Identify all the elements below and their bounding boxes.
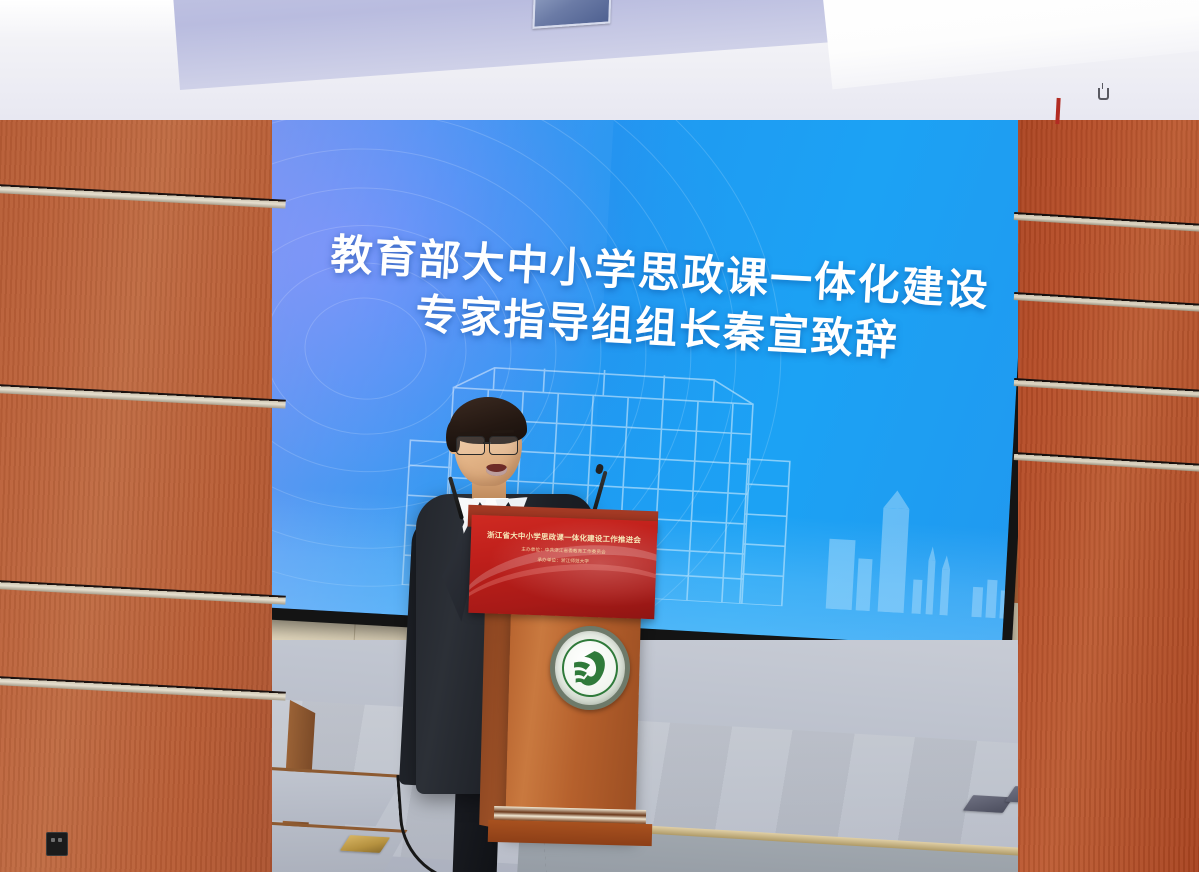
conference-photo-scene: 浙江省大中小学思政课一体化建设工作推进会 教育部大中小学思政课一体化建设 专家指… [0, 0, 1199, 872]
power-outlet-icon [46, 832, 68, 856]
mouth [486, 464, 507, 476]
left-wall [0, 0, 272, 872]
emblem-glyph [563, 640, 616, 695]
podium-banner-title: 浙江省大中小学思政课一体化建设工作推进会 [477, 529, 651, 546]
glasses-icon [456, 436, 526, 454]
podium-banner: 浙江省大中小学思政课一体化建设工作推进会 主办单位：中共浙江省委教育工作委员会 … [468, 515, 657, 619]
podium-base [488, 820, 653, 846]
podium: 浙江省大中小学思政课一体化建设工作推进会 主办单位：中共浙江省委教育工作委员会 … [468, 508, 658, 848]
sprinkler-icon [1098, 88, 1109, 100]
right-wall [1018, 0, 1199, 872]
